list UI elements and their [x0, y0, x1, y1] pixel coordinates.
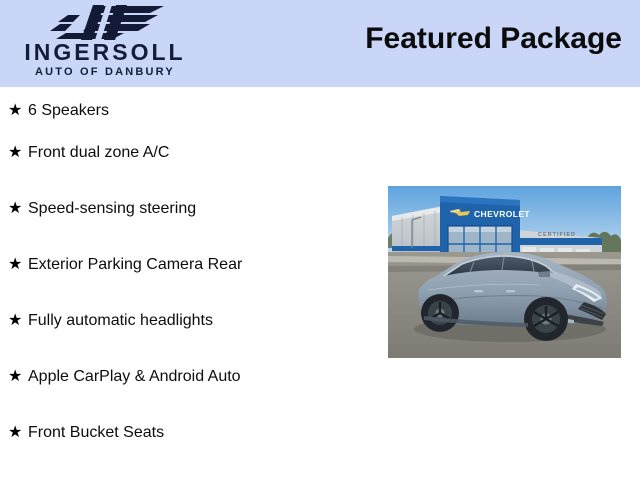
list-item-label: Fully automatic headlights: [28, 311, 380, 330]
ingersoll-winged-emblem-icon: [46, 4, 170, 40]
list-item-label: Front dual zone A/C: [28, 143, 380, 162]
star-bullet-icon: ★: [8, 199, 28, 218]
svg-text:CERTIFIED: CERTIFIED: [538, 232, 576, 238]
list-item-label: Speed-sensing steering: [28, 199, 380, 218]
dealer-tagline: AUTO OF DANBURY: [0, 66, 210, 79]
svg-text:CHEVROLET: CHEVROLET: [474, 209, 530, 219]
list-item: ★ Exterior Parking Camera Rear: [0, 255, 380, 311]
list-item: ★ Apple CarPlay & Android Auto: [0, 367, 380, 423]
page-title: Featured Package: [365, 22, 622, 56]
star-bullet-icon: ★: [8, 101, 28, 120]
page-header: INGERSOLL AUTO OF DANBURY Featured Packa…: [0, 0, 640, 87]
star-bullet-icon: ★: [8, 143, 28, 162]
list-item: ★ Front dual zone A/C: [0, 143, 380, 199]
list-item: ★ 6 Speakers: [0, 87, 380, 143]
list-item: ★ Speed-sensing steering: [0, 199, 380, 255]
list-item: ★ Front Bucket Seats: [0, 423, 380, 479]
dealer-name: INGERSOLL: [0, 40, 210, 64]
star-bullet-icon: ★: [8, 367, 28, 386]
list-item-label: 6 Speakers: [28, 101, 380, 120]
dealer-logo[interactable]: INGERSOLL AUTO OF DANBURY: [0, 2, 210, 86]
list-item-label: Exterior Parking Camera Rear: [28, 255, 380, 274]
list-item: ★ Fully automatic headlights: [0, 311, 380, 367]
list-item-label: Apple CarPlay & Android Auto: [28, 367, 380, 386]
featured-package-list: ★ 6 Speakers ★ Front dual zone A/C ★ Spe…: [0, 87, 380, 479]
star-bullet-icon: ★: [8, 423, 28, 442]
vehicle-photo[interactable]: CERTIFIED CHEVROLET: [388, 186, 621, 358]
star-bullet-icon: ★: [8, 311, 28, 330]
star-bullet-icon: ★: [8, 255, 28, 274]
list-item-label: Front Bucket Seats: [28, 423, 380, 442]
